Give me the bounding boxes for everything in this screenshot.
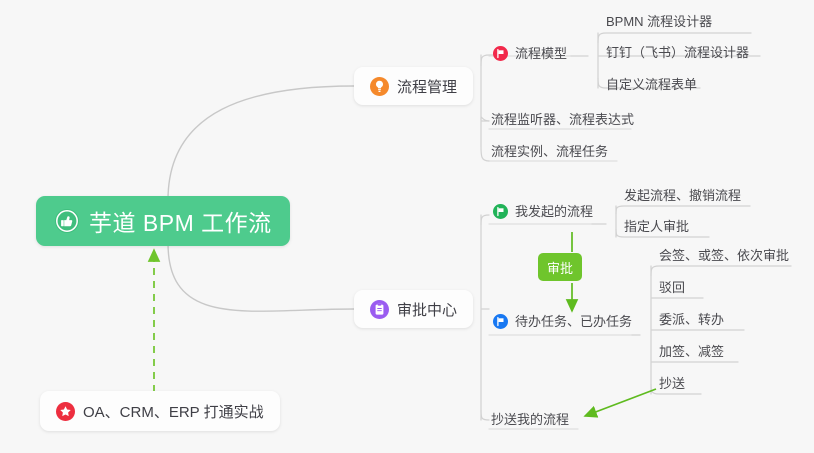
- mindmap-canvas: 芋道 BPM 工作流 流程管理 流程模型 BPMN 流程设计器 钉钉（飞书: [0, 0, 814, 453]
- flag-red-icon: [493, 46, 508, 61]
- tag-approval[interactable]: 审批: [538, 253, 582, 281]
- node-todo-done-task[interactable]: 待办任务、已办任务: [493, 314, 632, 329]
- leaf-assignee-approval[interactable]: 指定人审批: [624, 220, 689, 233]
- node-label-todo-done-task: 待办任务、已办任务: [515, 315, 632, 328]
- thumbs-up-icon: [54, 208, 80, 234]
- node-my-initiated-process[interactable]: 我发起的流程: [493, 204, 593, 219]
- footnote-label: OA、CRM、ERP 打通实战: [83, 401, 264, 422]
- flag-blue-icon: [493, 314, 508, 329]
- clipboard-icon: [370, 300, 389, 319]
- node-label-my-initiated-process: 我发起的流程: [515, 205, 593, 218]
- flag-green-icon: [493, 204, 508, 219]
- tag-approval-label: 审批: [547, 258, 573, 277]
- branch-label-approval-center: 审批中心: [397, 299, 457, 320]
- leaf-label-bpmn-designer: BPMN 流程设计器: [606, 15, 712, 28]
- leaf-bpmn-designer[interactable]: BPMN 流程设计器: [606, 15, 712, 28]
- leaf-custom-process-form[interactable]: 自定义流程表单: [606, 78, 697, 91]
- node-process-listener-expression[interactable]: 流程监听器、流程表达式: [491, 113, 634, 126]
- branch-label-process-management: 流程管理: [397, 76, 457, 97]
- leaf-label-add-remove-sign: 加签、减签: [659, 345, 724, 358]
- footnote-node[interactable]: OA、CRM、ERP 打通实战: [40, 391, 280, 431]
- node-label-cc-to-me-process: 抄送我的流程: [491, 413, 569, 426]
- node-process-model[interactable]: 流程模型: [493, 46, 567, 61]
- leaf-label-countersign-or-sequential: 会签、或签、依次审批: [659, 249, 789, 262]
- leaf-label-assignee-approval: 指定人审批: [624, 220, 689, 233]
- leaf-delegate-transfer[interactable]: 委派、转办: [659, 313, 724, 326]
- leaf-label-delegate-transfer: 委派、转办: [659, 313, 724, 326]
- leaf-label-reject: 驳回: [659, 281, 685, 294]
- leaf-reject[interactable]: 驳回: [659, 281, 685, 294]
- node-label-process-listener-expression: 流程监听器、流程表达式: [491, 113, 634, 126]
- branch-node-process-management[interactable]: 流程管理: [354, 67, 473, 105]
- lightbulb-icon: [370, 77, 389, 96]
- star-icon: [56, 402, 75, 421]
- node-cc-to-me-process[interactable]: 抄送我的流程: [491, 413, 569, 426]
- node-process-instance-task[interactable]: 流程实例、流程任务: [491, 145, 608, 158]
- leaf-label-custom-process-form: 自定义流程表单: [606, 78, 697, 91]
- root-label: 芋道 BPM 工作流: [89, 204, 272, 238]
- leaf-start-cancel-process[interactable]: 发起流程、撤销流程: [624, 189, 741, 202]
- root-node[interactable]: 芋道 BPM 工作流: [36, 196, 290, 246]
- node-label-process-model: 流程模型: [515, 47, 567, 60]
- leaf-label-carbon-copy: 抄送: [659, 377, 685, 390]
- branch-node-approval-center[interactable]: 审批中心: [354, 290, 473, 328]
- node-label-process-instance-task: 流程实例、流程任务: [491, 145, 608, 158]
- leaf-label-dingtalk-feishu-designer: 钉钉（飞书）流程设计器: [606, 46, 749, 59]
- leaf-label-start-cancel-process: 发起流程、撤销流程: [624, 189, 741, 202]
- leaf-carbon-copy[interactable]: 抄送: [659, 377, 685, 390]
- leaf-dingtalk-feishu-designer[interactable]: 钉钉（飞书）流程设计器: [606, 46, 749, 59]
- leaf-add-remove-sign[interactable]: 加签、减签: [659, 345, 724, 358]
- leaf-countersign-or-sequential[interactable]: 会签、或签、依次审批: [659, 249, 789, 262]
